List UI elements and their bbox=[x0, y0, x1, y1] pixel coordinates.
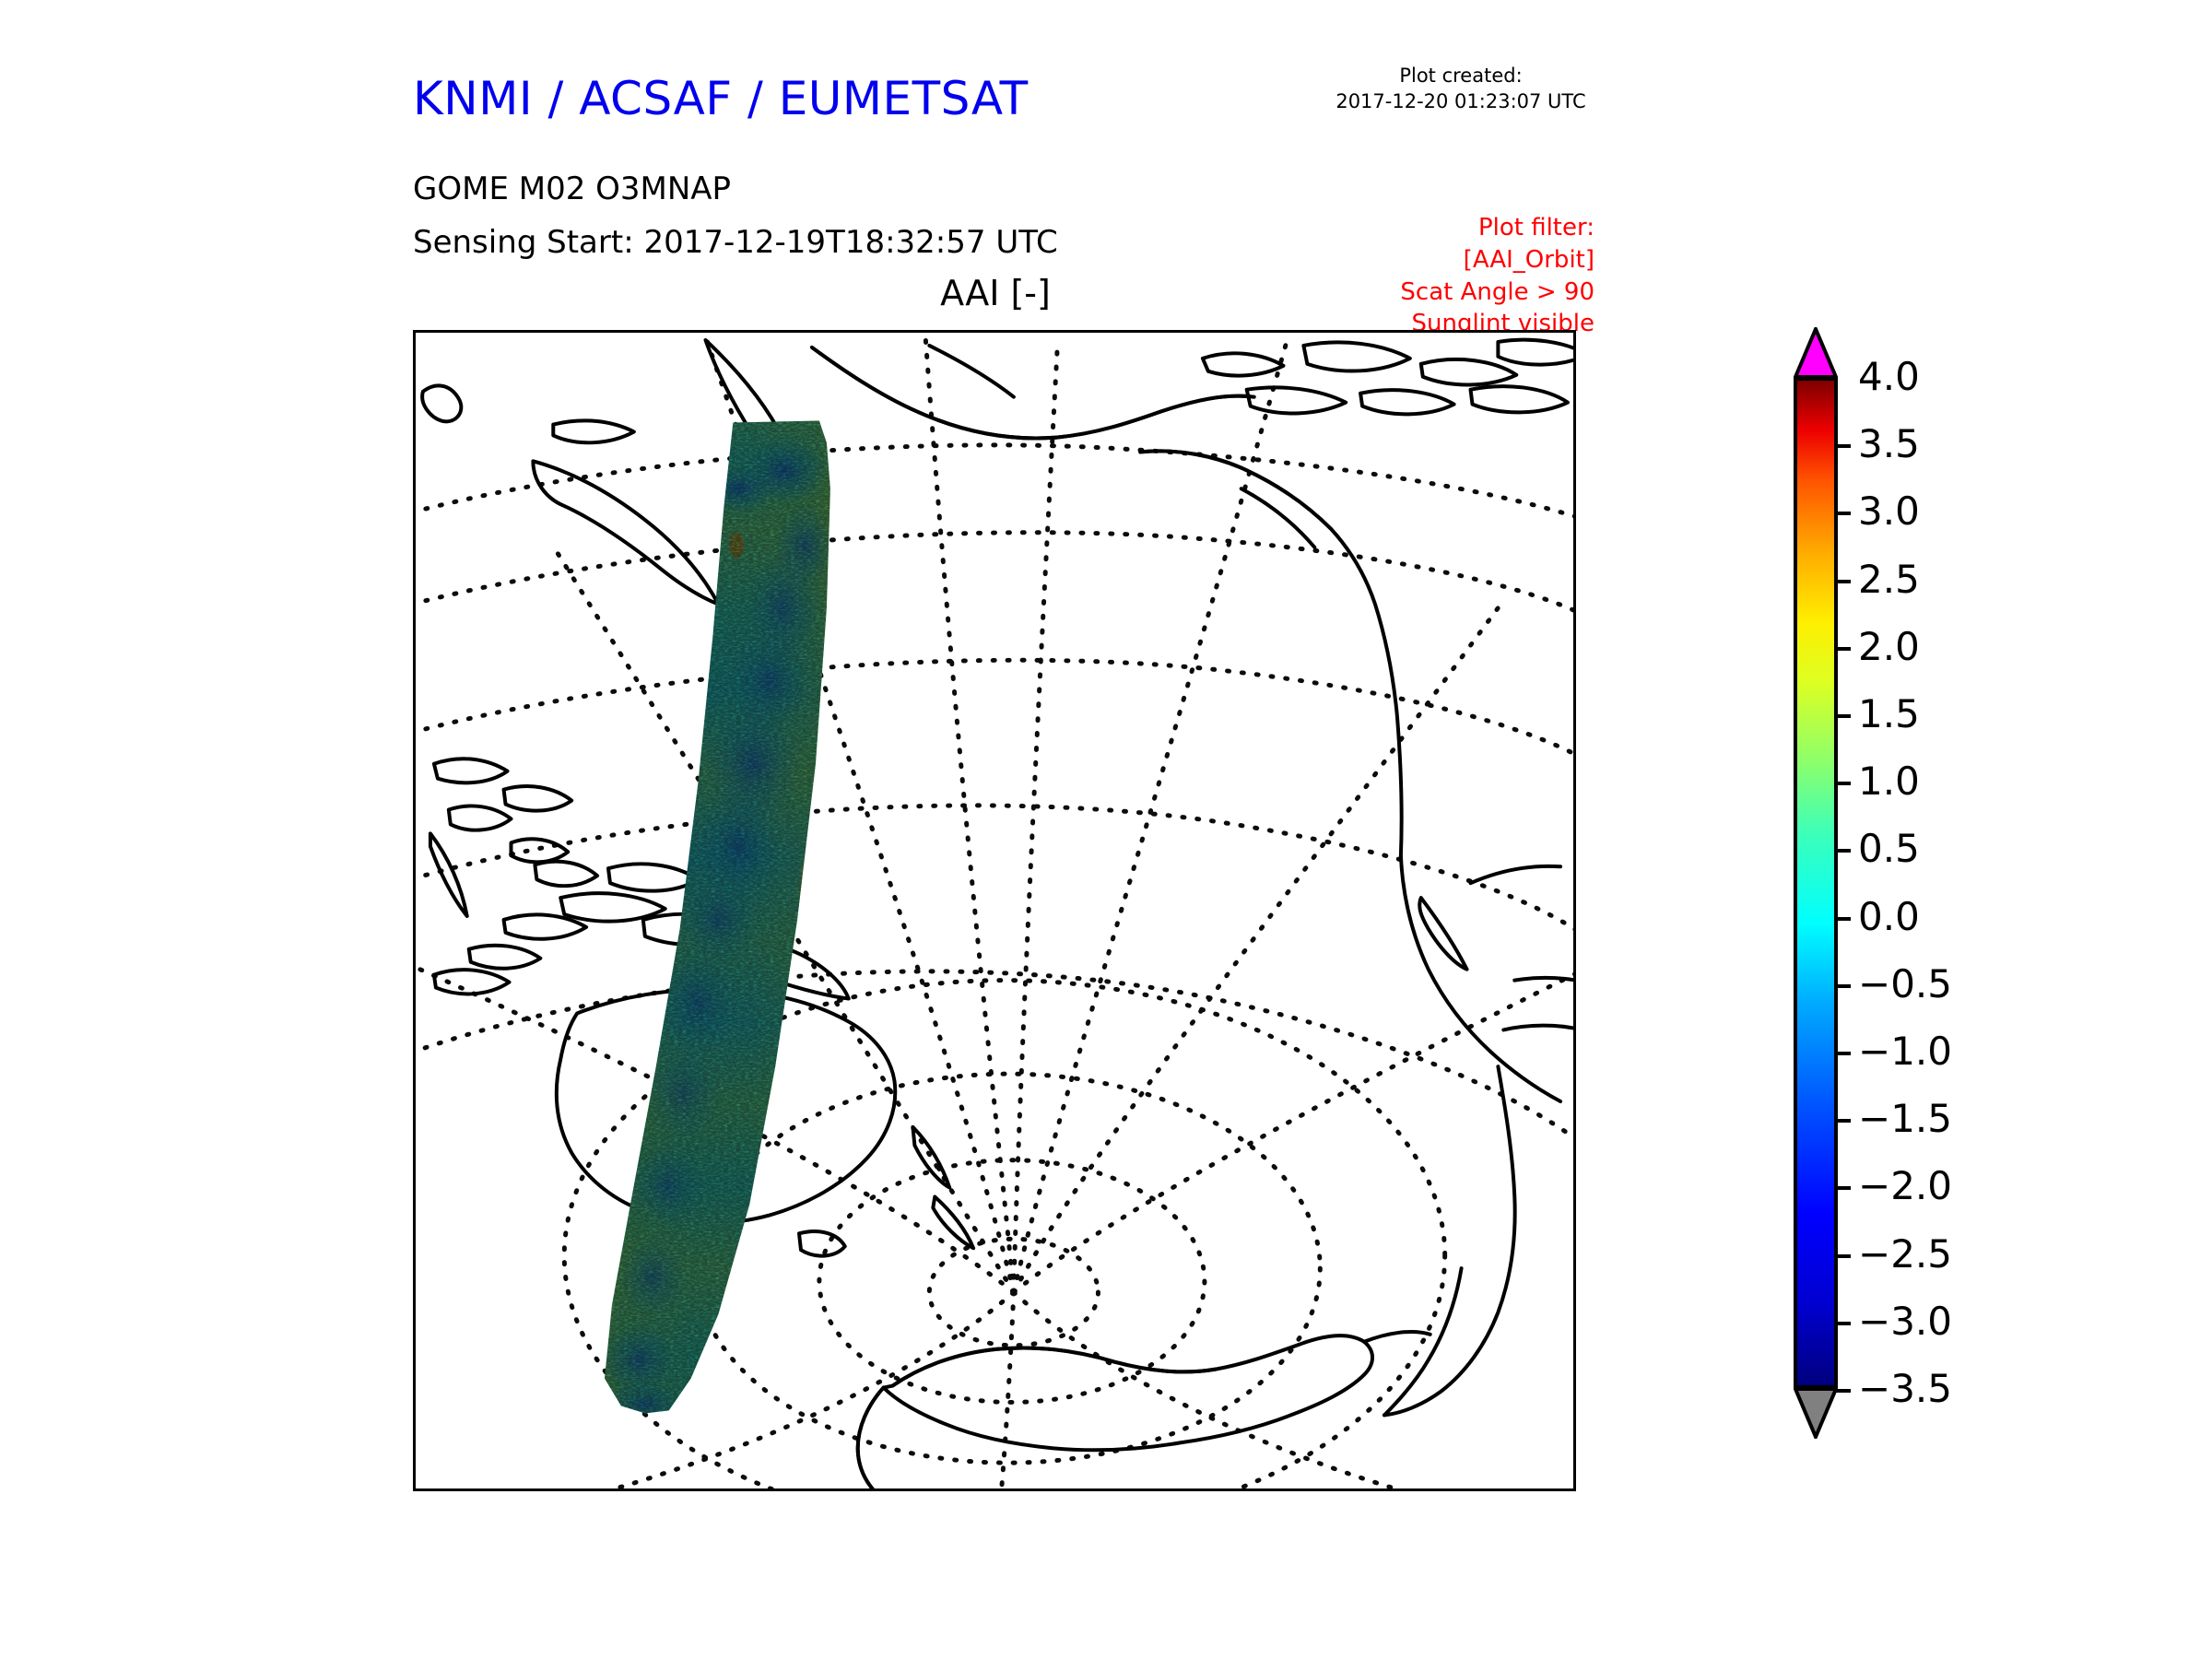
colorbar-tick-label: −2.0 bbox=[1858, 1167, 1952, 1206]
page-title: AAI [-] bbox=[413, 273, 1578, 313]
colorbar-tick-label: −1.5 bbox=[1858, 1100, 1952, 1138]
colorbar-tick-label: 2.5 bbox=[1858, 560, 1920, 599]
colorbar[interactable]: 4.03.53.02.52.01.51.00.50.0−0.5−1.0−1.5−… bbox=[1794, 327, 2181, 1525]
colorbar-tick-label: 1.5 bbox=[1858, 695, 1920, 734]
colorbar-tick-label: −3.5 bbox=[1858, 1370, 1952, 1408]
colorbar-tick-label: 2.0 bbox=[1858, 628, 1920, 666]
colorbar-tick-label: −1.0 bbox=[1858, 1032, 1952, 1071]
plot-created-value: 2017-12-20 01:23:07 UTC bbox=[1327, 88, 1594, 114]
plot-created-block: Plot created: 2017-12-20 01:23:07 UTC bbox=[1327, 63, 1594, 115]
colorbar-tick bbox=[1834, 1119, 1851, 1123]
colorbar-tick-label: 1.0 bbox=[1858, 762, 1920, 801]
graticule bbox=[416, 340, 1573, 1488]
colorbar-tick bbox=[1834, 984, 1851, 988]
colorbar-tick-label: 3.0 bbox=[1858, 492, 1920, 531]
colorbar-tick bbox=[1834, 512, 1851, 515]
colorbar-gradient bbox=[1797, 381, 1834, 1385]
colorbar-tick bbox=[1834, 1186, 1851, 1190]
coastlines bbox=[422, 340, 1573, 1488]
colorbar-tick-label: −0.5 bbox=[1858, 965, 1952, 1004]
colorbar-over-arrow bbox=[1794, 327, 1838, 379]
colorbar-tick-label: 0.5 bbox=[1858, 829, 1920, 868]
map-canvas bbox=[416, 333, 1573, 1488]
colorbar-tick bbox=[1834, 1389, 1851, 1393]
colorbar-tick bbox=[1834, 849, 1851, 853]
colorbar-tick-label: −2.5 bbox=[1858, 1235, 1952, 1274]
plot-filter-name: [AAI_Orbit] bbox=[1318, 244, 1594, 276]
map-plot-area[interactable] bbox=[413, 330, 1576, 1491]
colorbar-tick-label: −3.0 bbox=[1858, 1302, 1952, 1341]
coastlines-overlay bbox=[812, 347, 1331, 1488]
colorbar-tick bbox=[1834, 580, 1851, 583]
colorbar-tick-label: 0.0 bbox=[1858, 898, 1920, 936]
colorbar-tick bbox=[1834, 1322, 1851, 1325]
colorbar-body[interactable] bbox=[1794, 377, 1838, 1389]
colorbar-under-arrow bbox=[1794, 1387, 1838, 1439]
colorbar-tick bbox=[1834, 1254, 1851, 1258]
colorbar-tick bbox=[1834, 444, 1851, 448]
colorbar-tick bbox=[1834, 917, 1851, 921]
colorbar-tick bbox=[1834, 782, 1851, 785]
plot-created-label: Plot created: bbox=[1327, 63, 1594, 88]
colorbar-tick bbox=[1834, 1052, 1851, 1055]
plot-filter-label: Plot filter: bbox=[1318, 212, 1594, 244]
sensing-start-line: Sensing Start: 2017-12-19T18:32:57 UTC bbox=[413, 224, 1058, 261]
colorbar-tick bbox=[1834, 714, 1851, 718]
product-line: GOME M02 O3MNAP bbox=[413, 171, 731, 207]
colorbar-tick-label: 4.0 bbox=[1858, 358, 1920, 396]
colorbar-tick bbox=[1834, 647, 1851, 651]
colorbar-tick-label: 3.5 bbox=[1858, 425, 1920, 464]
organisation-title: KNMI / ACSAF / EUMETSAT bbox=[413, 72, 1029, 125]
